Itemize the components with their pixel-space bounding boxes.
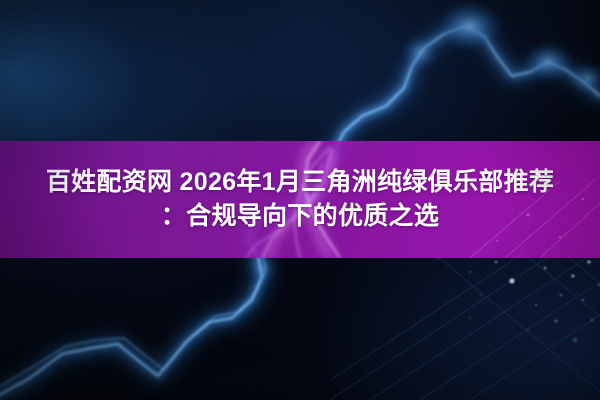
banner-image: 百姓配资网 2026年1月三角洲纯绿俱乐部推荐 ：合规导向下的优质之选 [0, 0, 600, 400]
particle-speckles [437, 255, 600, 343]
title-line-secondary: ：合规导向下的优质之选 [161, 203, 439, 231]
title-line-primary: 百姓配资网 2026年1月三角洲纯绿俱乐部推荐 [46, 169, 554, 197]
banner-title: 百姓配资网 2026年1月三角洲纯绿俱乐部推荐 ：合规导向下的优质之选 [0, 141, 600, 258]
